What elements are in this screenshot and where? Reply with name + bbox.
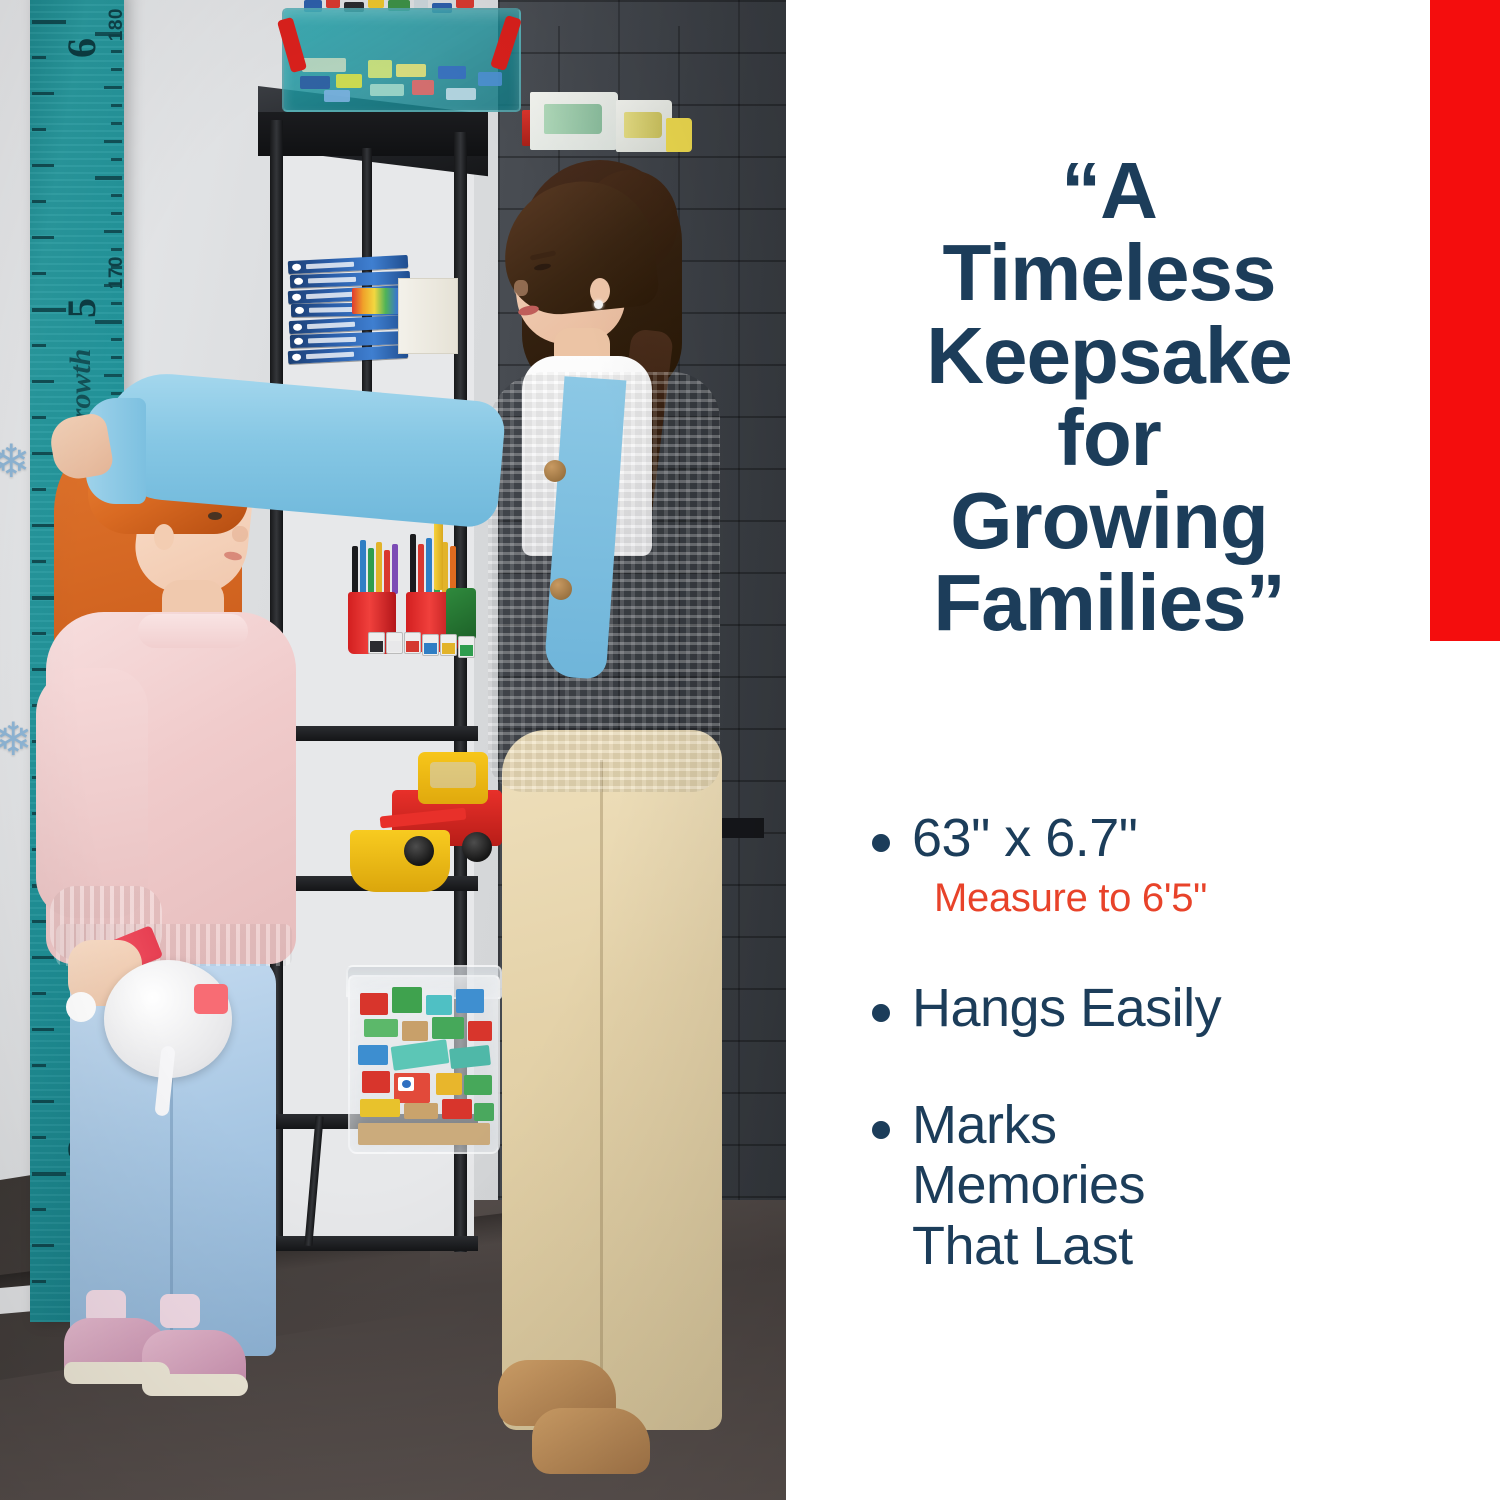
bullet-dot-icon: [872, 834, 890, 852]
child-nose: [232, 526, 248, 542]
plush-patch: [194, 984, 228, 1014]
red-accent-bar: [1430, 0, 1500, 641]
paint-pot: [386, 632, 403, 654]
child-shoe-sole: [142, 1374, 248, 1396]
snowflake-decal-icon: ❄: [0, 438, 31, 484]
ruler-cm-label: 180: [106, 8, 128, 41]
child-sleeve: [36, 668, 148, 918]
adult-nose: [514, 280, 528, 296]
child-eye: [208, 512, 222, 520]
plush-hat-pompom: [66, 992, 96, 1022]
child-sweater-collar: [138, 614, 248, 648]
paint-pot: [368, 632, 385, 654]
ruler-feet-label: 5: [58, 298, 105, 318]
adult-trouser-seam: [600, 760, 603, 1400]
lego-storage-bin: [282, 8, 521, 112]
feature-list: 63" x 6.7" Measure to 6'5" Hangs Easily …: [872, 808, 1392, 1276]
list-item: Marks Memories That Last: [872, 1095, 1392, 1276]
child-sock: [160, 1294, 200, 1328]
page-title: “A Timeless Keepsake for Growing Familie…: [826, 150, 1392, 644]
lifestyle-photo: 6 5 4 2 180 170 160 150 140 Growth ❄ ❄: [0, 0, 786, 1500]
feature-marks-memories: Marks Memories That Last: [912, 1095, 1392, 1276]
snowflake-decal-icon: ❄: [0, 716, 33, 762]
child-ear: [154, 524, 174, 550]
list-item-body: 63" x 6.7" Measure to 6'5": [912, 808, 1392, 922]
picture-books: [530, 92, 690, 154]
bullet-dot-icon: [872, 1121, 890, 1139]
content-panel: “A Timeless Keepsake for Growing Familie…: [786, 0, 1500, 1500]
bullet-dot-icon: [872, 1004, 890, 1022]
adult-figure: [404, 160, 734, 1490]
list-item: 63" x 6.7" Measure to 6'5": [872, 808, 1392, 922]
adult-earring: [594, 300, 603, 309]
product-infographic: 6 5 4 2 180 170 160 150 140 Growth ❄ ❄: [0, 0, 1500, 1500]
list-item-body: Marks Memories That Last: [912, 1095, 1392, 1276]
ruler-feet-label: 6: [58, 38, 105, 58]
feature-measure-range: Measure to 6'5": [934, 874, 1392, 922]
feature-hangs-easily: Hangs Easily: [912, 978, 1392, 1038]
list-item-body: Hangs Easily: [912, 978, 1392, 1038]
ruler-cm-label: 170: [106, 256, 128, 289]
adult-trousers: [502, 730, 722, 1430]
cardigan-button: [550, 578, 572, 600]
child-figure: [42, 400, 342, 1490]
list-item: Hangs Easily: [872, 978, 1392, 1038]
lego-bricks: [288, 14, 515, 106]
adult-shoe: [532, 1408, 650, 1474]
feature-dimensions: 63" x 6.7": [912, 808, 1392, 868]
cardigan-button: [544, 460, 566, 482]
